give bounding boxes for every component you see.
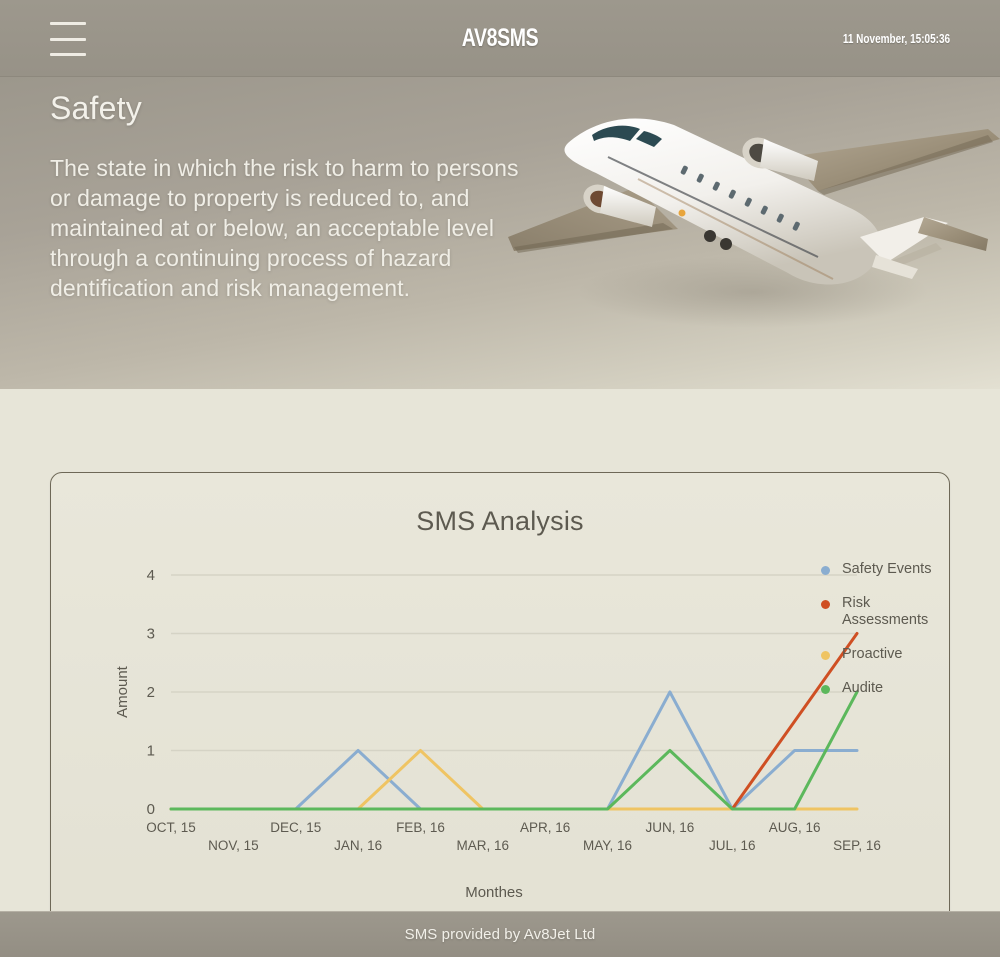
x-axis-tick-label: NOV, 15 xyxy=(208,838,259,853)
app-title: AV8SMS xyxy=(110,24,890,53)
sms-analysis-card: SMS Analysis 01234AmountOCT, 15NOV, 15DE… xyxy=(50,472,950,951)
hamburger-menu-icon[interactable] xyxy=(50,22,86,56)
legend-label: Safety Events xyxy=(842,561,931,578)
legend-item-safety-events[interactable]: Safety Events xyxy=(821,561,946,578)
x-axis-tick-label: DEC, 15 xyxy=(270,820,321,835)
x-axis-tick-label: APR, 16 xyxy=(520,820,570,835)
hamburger-bar xyxy=(50,38,86,41)
x-axis-tick-label: JAN, 16 xyxy=(334,838,382,853)
hero-text-block: Safety The state in which the risk to ha… xyxy=(50,90,530,303)
legend-dot-icon xyxy=(821,566,830,575)
x-axis-tick-label: FEB, 16 xyxy=(396,820,445,835)
x-axis-tick-label: OCT, 15 xyxy=(146,820,196,835)
business-jet-photo xyxy=(488,87,1000,337)
app-root: AV8SMS 11 November, 15:05:36 Safety The … xyxy=(0,0,1000,957)
y-axis-tick-label: 1 xyxy=(147,743,155,760)
app-footer: SMS provided by Av8Jet Ltd xyxy=(0,911,1000,957)
legend-dot-icon xyxy=(821,685,830,694)
x-axis-tick-label: MAY, 16 xyxy=(583,838,632,853)
app-header: AV8SMS 11 November, 15:05:36 xyxy=(0,0,1000,77)
legend-label: Audite xyxy=(842,680,883,697)
hamburger-bar xyxy=(50,53,86,56)
chart-legend: Safety Events Risk Assessments Proactive… xyxy=(821,561,946,714)
hero-banner: Safety The state in which the risk to ha… xyxy=(0,77,1000,389)
footer-text: SMS provided by Av8Jet Ltd xyxy=(405,926,596,943)
x-axis-tick-label: AUG, 16 xyxy=(769,820,821,835)
legend-item-audite[interactable]: Audite xyxy=(821,680,946,697)
page-title: Safety xyxy=(50,90,530,127)
legend-dot-icon xyxy=(821,600,830,609)
y-axis-tick-label: 3 xyxy=(147,626,155,643)
x-axis-tick-label: MAR, 16 xyxy=(457,838,510,853)
chart-plot-area: 01234AmountOCT, 15NOV, 15DEC, 15JAN, 16F… xyxy=(51,553,951,923)
y-axis-tick-label: 0 xyxy=(147,801,155,818)
clock-display: 11 November, 15:05:36 xyxy=(843,32,950,46)
x-axis-title: Monthes xyxy=(465,884,523,901)
legend-item-risk-assessments[interactable]: Risk Assessments xyxy=(821,595,946,629)
main-content: SMS Analysis 01234AmountOCT, 15NOV, 15DE… xyxy=(0,389,1000,957)
x-axis-tick-label: JUL, 16 xyxy=(709,838,756,853)
y-axis-tick-label: 4 xyxy=(147,567,155,584)
legend-dot-icon xyxy=(821,651,830,660)
y-axis-title: Amount xyxy=(114,665,131,718)
legend-label: Risk Assessments xyxy=(842,595,937,629)
x-axis-tick-label: SEP, 16 xyxy=(833,838,881,853)
legend-label: Proactive xyxy=(842,646,902,663)
hamburger-bar xyxy=(50,22,86,25)
chart-title: SMS Analysis xyxy=(51,473,949,537)
x-axis-tick-label: JUN, 16 xyxy=(646,820,695,835)
safety-definition-text: The state in which the risk to harm to p… xyxy=(50,153,530,303)
y-axis-tick-label: 2 xyxy=(147,684,155,701)
series-line-risk-assessments xyxy=(171,634,857,810)
legend-item-proactive[interactable]: Proactive xyxy=(821,646,946,663)
